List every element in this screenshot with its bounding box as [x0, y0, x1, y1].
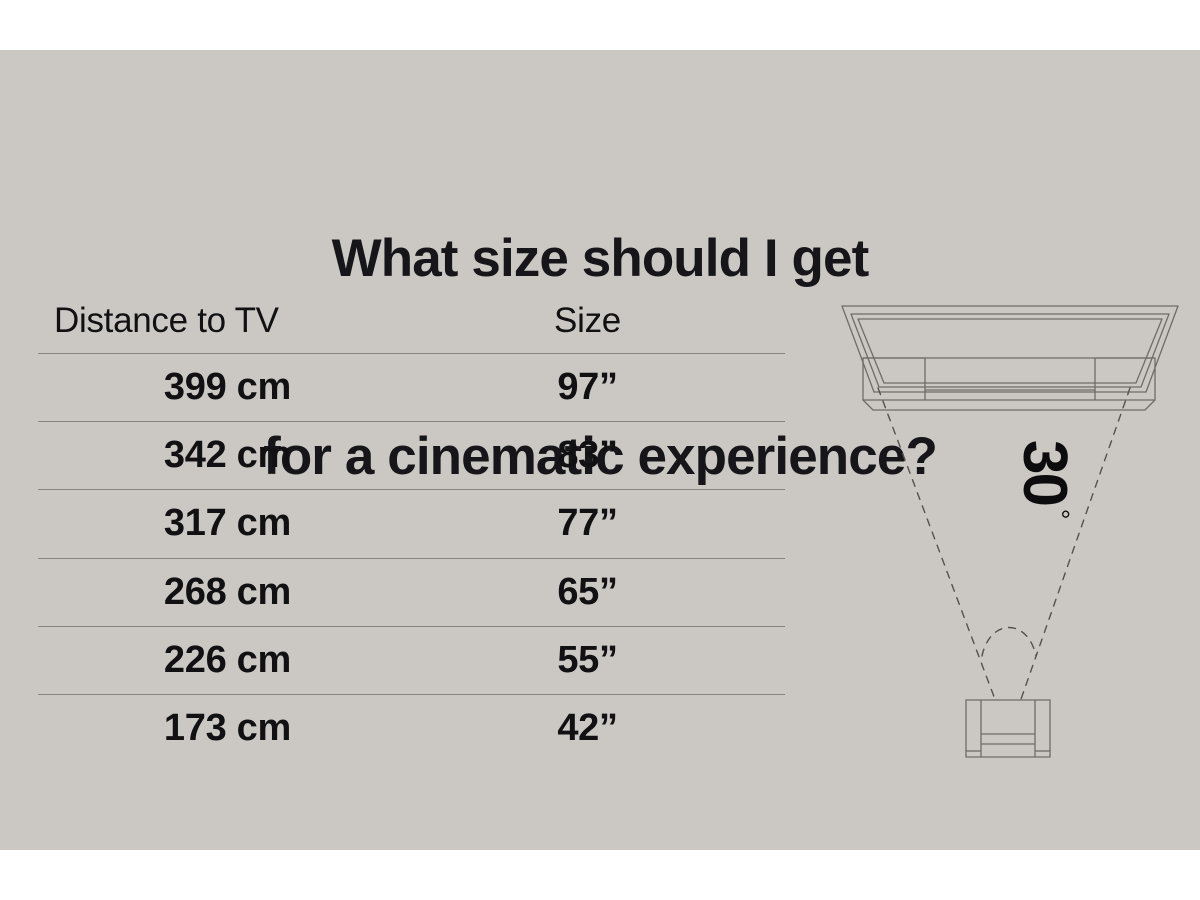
angle-line-right	[1020, 388, 1130, 702]
column-header-distance: Distance to TV	[38, 301, 468, 341]
table-row: 268 cm 65”	[38, 558, 785, 626]
cell-distance: 342 cm	[38, 434, 468, 477]
page-title-line-1: What size should I get	[0, 226, 1200, 292]
cell-size: 97”	[468, 366, 785, 409]
cell-distance: 268 cm	[38, 571, 468, 614]
angle-line-left	[878, 388, 996, 702]
tv-base-outline	[863, 358, 1155, 410]
tv-base-top-edge	[863, 358, 1155, 390]
size-recommendation-table: Distance to TV Size 399 cm 97” 342 cm 83…	[38, 288, 785, 762]
table-row: 342 cm 83”	[38, 421, 785, 489]
cell-size: 83”	[468, 434, 785, 477]
cell-size: 55”	[468, 639, 785, 682]
table-row: 173 cm 42”	[38, 694, 785, 762]
cell-size: 42”	[468, 707, 785, 750]
cell-size: 77”	[468, 502, 785, 545]
table-row: 226 cm 55”	[38, 626, 785, 694]
table-row: 317 cm 77”	[38, 489, 785, 557]
viewing-angle-cone	[878, 388, 1130, 702]
table-header-row: Distance to TV Size	[38, 288, 785, 353]
armchair-top-view-icon	[966, 700, 1050, 757]
angle-arc	[982, 628, 1036, 657]
cell-distance: 173 cm	[38, 707, 468, 750]
cell-distance: 399 cm	[38, 366, 468, 409]
cell-size: 65”	[468, 571, 785, 614]
infographic-canvas: What size should I get for a cinematic e…	[0, 0, 1200, 900]
tv-screen-inner-bezel	[851, 314, 1169, 387]
tv-screen-face	[858, 319, 1162, 383]
viewing-angle-diagram	[830, 290, 1190, 780]
table-row: 399 cm 97”	[38, 353, 785, 421]
viewing-angle-diagram-svg	[830, 290, 1190, 780]
cell-distance: 226 cm	[38, 639, 468, 682]
column-header-size: Size	[468, 301, 785, 341]
armchair-outline	[966, 700, 1050, 757]
cell-distance: 317 cm	[38, 502, 468, 545]
